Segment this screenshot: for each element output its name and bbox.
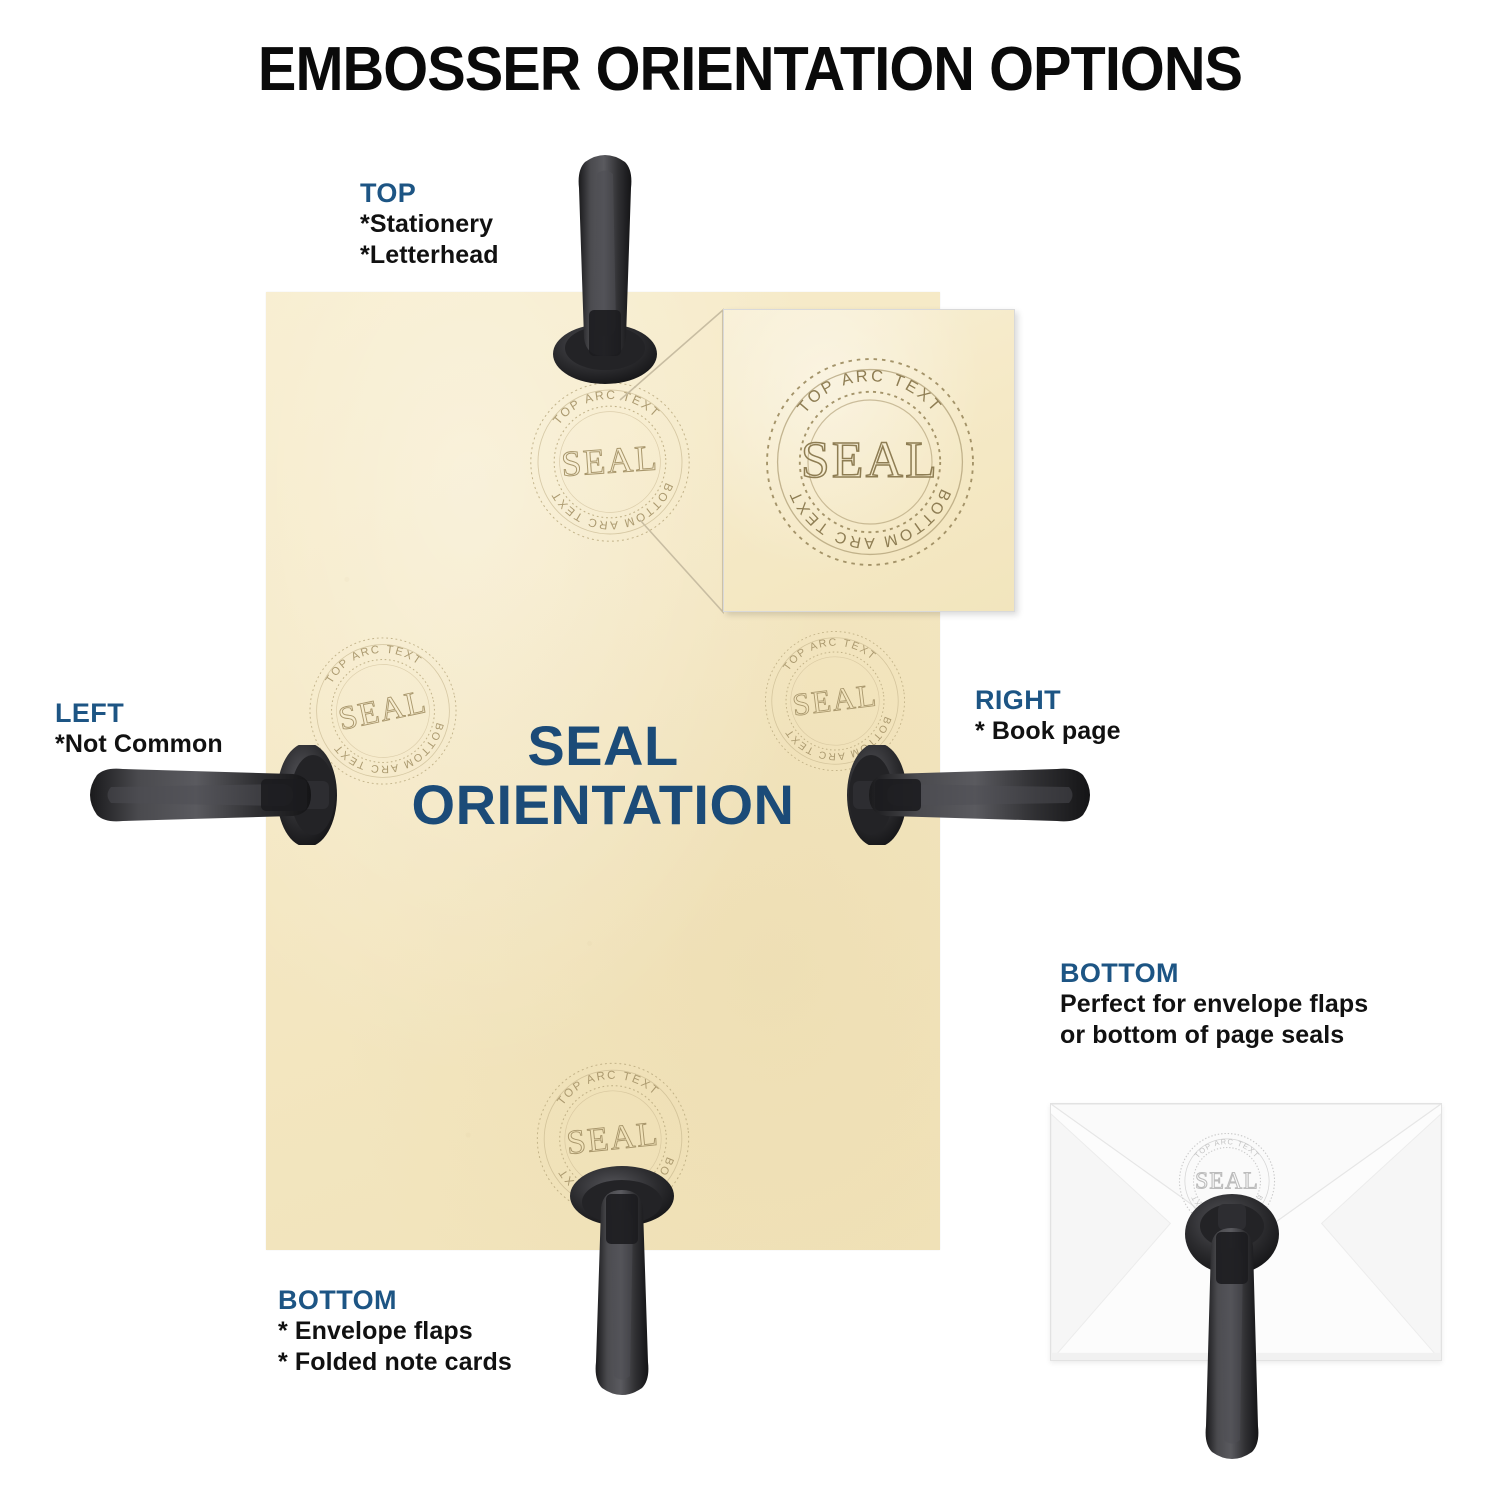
center-label-line1: SEAL [266, 716, 940, 775]
label-bottom-right-line-2: or bottom of page seals [1060, 1020, 1368, 1051]
label-bottom-right: BOTTOM Perfect for envelope flaps or bot… [1060, 958, 1368, 1050]
label-bottom-right-line-1: Perfect for envelope flaps [1060, 989, 1368, 1020]
label-left: LEFT *Not Common [55, 698, 223, 760]
label-right-line-1: * Book page [975, 716, 1121, 747]
label-left-heading: LEFT [55, 698, 223, 729]
embosser-tool-envelope[interactable] [1178, 1182, 1286, 1462]
label-top-line-1: *Stationery [360, 209, 499, 240]
label-bottom-right-heading: BOTTOM [1060, 958, 1368, 989]
label-bottom-left-line-2: * Folded note cards [278, 1347, 512, 1378]
label-right: RIGHT * Book page [975, 685, 1121, 747]
svg-text:BOTTOM ARC TEXT: BOTTOM ARC TEXT [786, 486, 953, 551]
embosser-tool-right[interactable] [845, 745, 1095, 845]
center-label-line2: ORIENTATION [266, 775, 940, 834]
center-seal-orientation-label: SEAL ORIENTATION [266, 716, 940, 835]
page-title: EMBOSSER ORIENTATION OPTIONS [53, 34, 1448, 105]
seal-impression-magnified: TOP ARC TEXT BOTTOM ARC TEXT SEAL [753, 345, 987, 579]
label-right-heading: RIGHT [975, 685, 1121, 716]
label-top-line-2: *Letterhead [360, 240, 499, 271]
embosser-tool-bottom[interactable] [562, 1152, 682, 1400]
label-top: TOP *Stationery *Letterhead [360, 178, 499, 270]
label-left-line-1: *Not Common [55, 729, 223, 760]
label-bottom-left-heading: BOTTOM [278, 1285, 512, 1316]
svg-text:SEAL: SEAL [801, 432, 939, 489]
embosser-tool-top[interactable] [545, 150, 665, 390]
label-top-heading: TOP [360, 178, 499, 209]
label-bottom-left: BOTTOM * Envelope flaps * Folded note ca… [278, 1285, 512, 1377]
magnified-seal-inset: TOP ARC TEXT BOTTOM ARC TEXT SEAL [723, 309, 1015, 612]
label-bottom-left-line-1: * Envelope flaps [278, 1316, 512, 1347]
embosser-tool-left[interactable] [85, 745, 355, 845]
diagram-canvas: EMBOSSER ORIENTATION OPTIONS TOP ARC TEX… [0, 0, 1500, 1500]
